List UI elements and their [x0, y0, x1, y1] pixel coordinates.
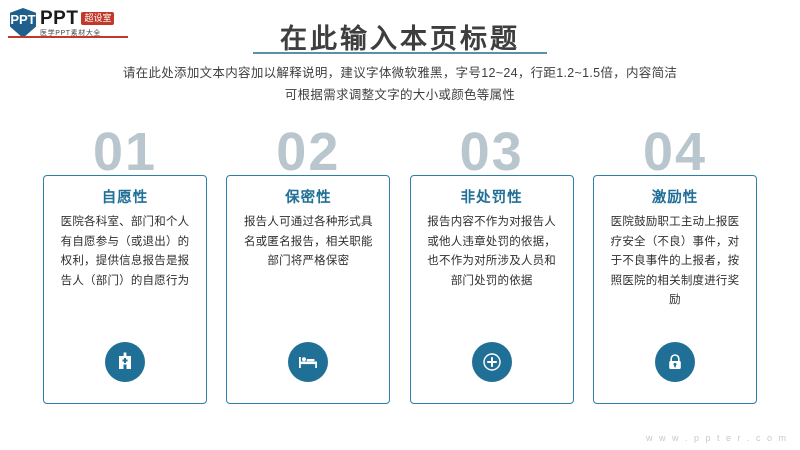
title-underline	[253, 52, 547, 54]
card-heading: 激励性	[593, 186, 757, 207]
card-02: 02 保密性 报告人可通过各种形式具名或匿名报告，相关职能部门将严格保密	[226, 124, 390, 404]
subtitle-line-1: 请在此处添加文本内容加以解释说明，建议字体微软雅黑，字号12~24，行距1.2~…	[0, 62, 800, 84]
footer-watermark: w w w . p p t e r . c o m	[646, 433, 788, 443]
card-heading: 自愿性	[43, 186, 207, 207]
medical-cross-icon	[472, 342, 512, 382]
card-body: 医院鼓励职工主动上报医疗安全（不良）事件，对于不良事件的上报者，按照医院的相关制…	[607, 213, 743, 311]
lock-icon	[655, 342, 695, 382]
card-number: 03	[410, 124, 574, 180]
card-number: 02	[226, 124, 390, 180]
card-03: 03 非处罚性 报告内容不作为对报告人或他人违章处罚的依据，也不作为对所涉及人员…	[410, 124, 574, 404]
hospital-icon	[105, 342, 145, 382]
page-title: 在此输入本页标题	[0, 17, 800, 56]
cards-row: 01 自愿性 医院各科室、部门和个人有自愿参与（或退出）的权利，提供信息报告是报…	[43, 124, 757, 404]
card-number: 01	[43, 124, 207, 180]
card-04: 04 激励性 医院鼓励职工主动上报医疗安全（不良）事件，对于不良事件的上报者，按…	[593, 124, 757, 404]
subtitle-line-2: 可根据需求调整文字的大小或颜色等属性	[0, 84, 800, 106]
card-heading: 非处罚性	[410, 186, 574, 207]
card-body: 报告内容不作为对报告人或他人违章处罚的依据，也不作为对所涉及人员和部门处罚的依据	[424, 213, 560, 291]
card-heading: 保密性	[226, 186, 390, 207]
page-subtitle: 请在此处添加文本内容加以解释说明，建议字体微软雅黑，字号12~24，行距1.2~…	[0, 62, 800, 106]
card-body: 报告人可通过各种形式具名或匿名报告，相关职能部门将严格保密	[240, 213, 376, 272]
card-number: 04	[593, 124, 757, 180]
card-body: 医院各科室、部门和个人有自愿参与（或退出）的权利，提供信息报告是报告人（部门）的…	[57, 213, 193, 291]
card-01: 01 自愿性 医院各科室、部门和个人有自愿参与（或退出）的权利，提供信息报告是报…	[43, 124, 207, 404]
slide: PPT PPT 超设室 医学PPT素材大全 在此输入本页标题 请在此处添加文本内…	[0, 0, 800, 450]
